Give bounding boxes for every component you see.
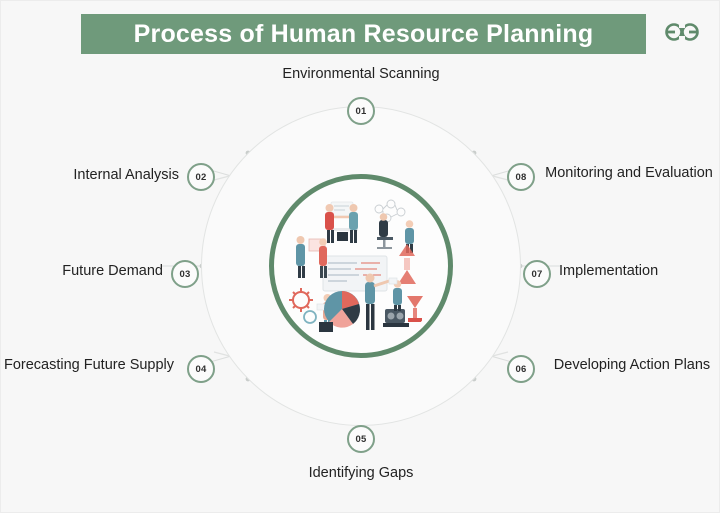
step-number-04: 04: [196, 364, 207, 375]
step-badge-05[interactable]: 05: [347, 425, 375, 453]
step-label-01: Environmental Scanning: [236, 65, 486, 84]
step-label-08: Monitoring and Evaluation: [543, 164, 715, 183]
step-number-06: 06: [516, 364, 527, 375]
step-badge-04[interactable]: 04: [187, 355, 215, 383]
step-badge-07[interactable]: 07: [523, 260, 551, 288]
step-label-06: Developing Action Plans: [543, 356, 720, 375]
step-label-03: Future Demand: [1, 262, 163, 281]
step-label-05: Identifying Gaps: [236, 464, 486, 483]
step-number-02: 02: [196, 172, 207, 183]
circular-process-diagram: Environmental Scanning 01 Internal Analy…: [1, 1, 720, 513]
step-number-07: 07: [532, 269, 543, 280]
step-label-07: Implementation: [559, 262, 720, 281]
step-badge-02[interactable]: 02: [187, 163, 215, 191]
step-label-02: Internal Analysis: [1, 166, 179, 185]
human-resource-planning-illustration: [279, 184, 443, 348]
step-badge-08[interactable]: 08: [507, 163, 535, 191]
step-label-04: Forecasting Future Supply: [1, 356, 177, 375]
infographic-canvas: Process of Human Resource Planning: [0, 0, 720, 513]
step-number-01: 01: [356, 106, 367, 117]
step-badge-06[interactable]: 06: [507, 355, 535, 383]
step-number-05: 05: [356, 434, 367, 445]
step-number-03: 03: [180, 269, 191, 280]
step-badge-03[interactable]: 03: [171, 260, 199, 288]
step-number-08: 08: [516, 172, 527, 183]
step-badge-01[interactable]: 01: [347, 97, 375, 125]
